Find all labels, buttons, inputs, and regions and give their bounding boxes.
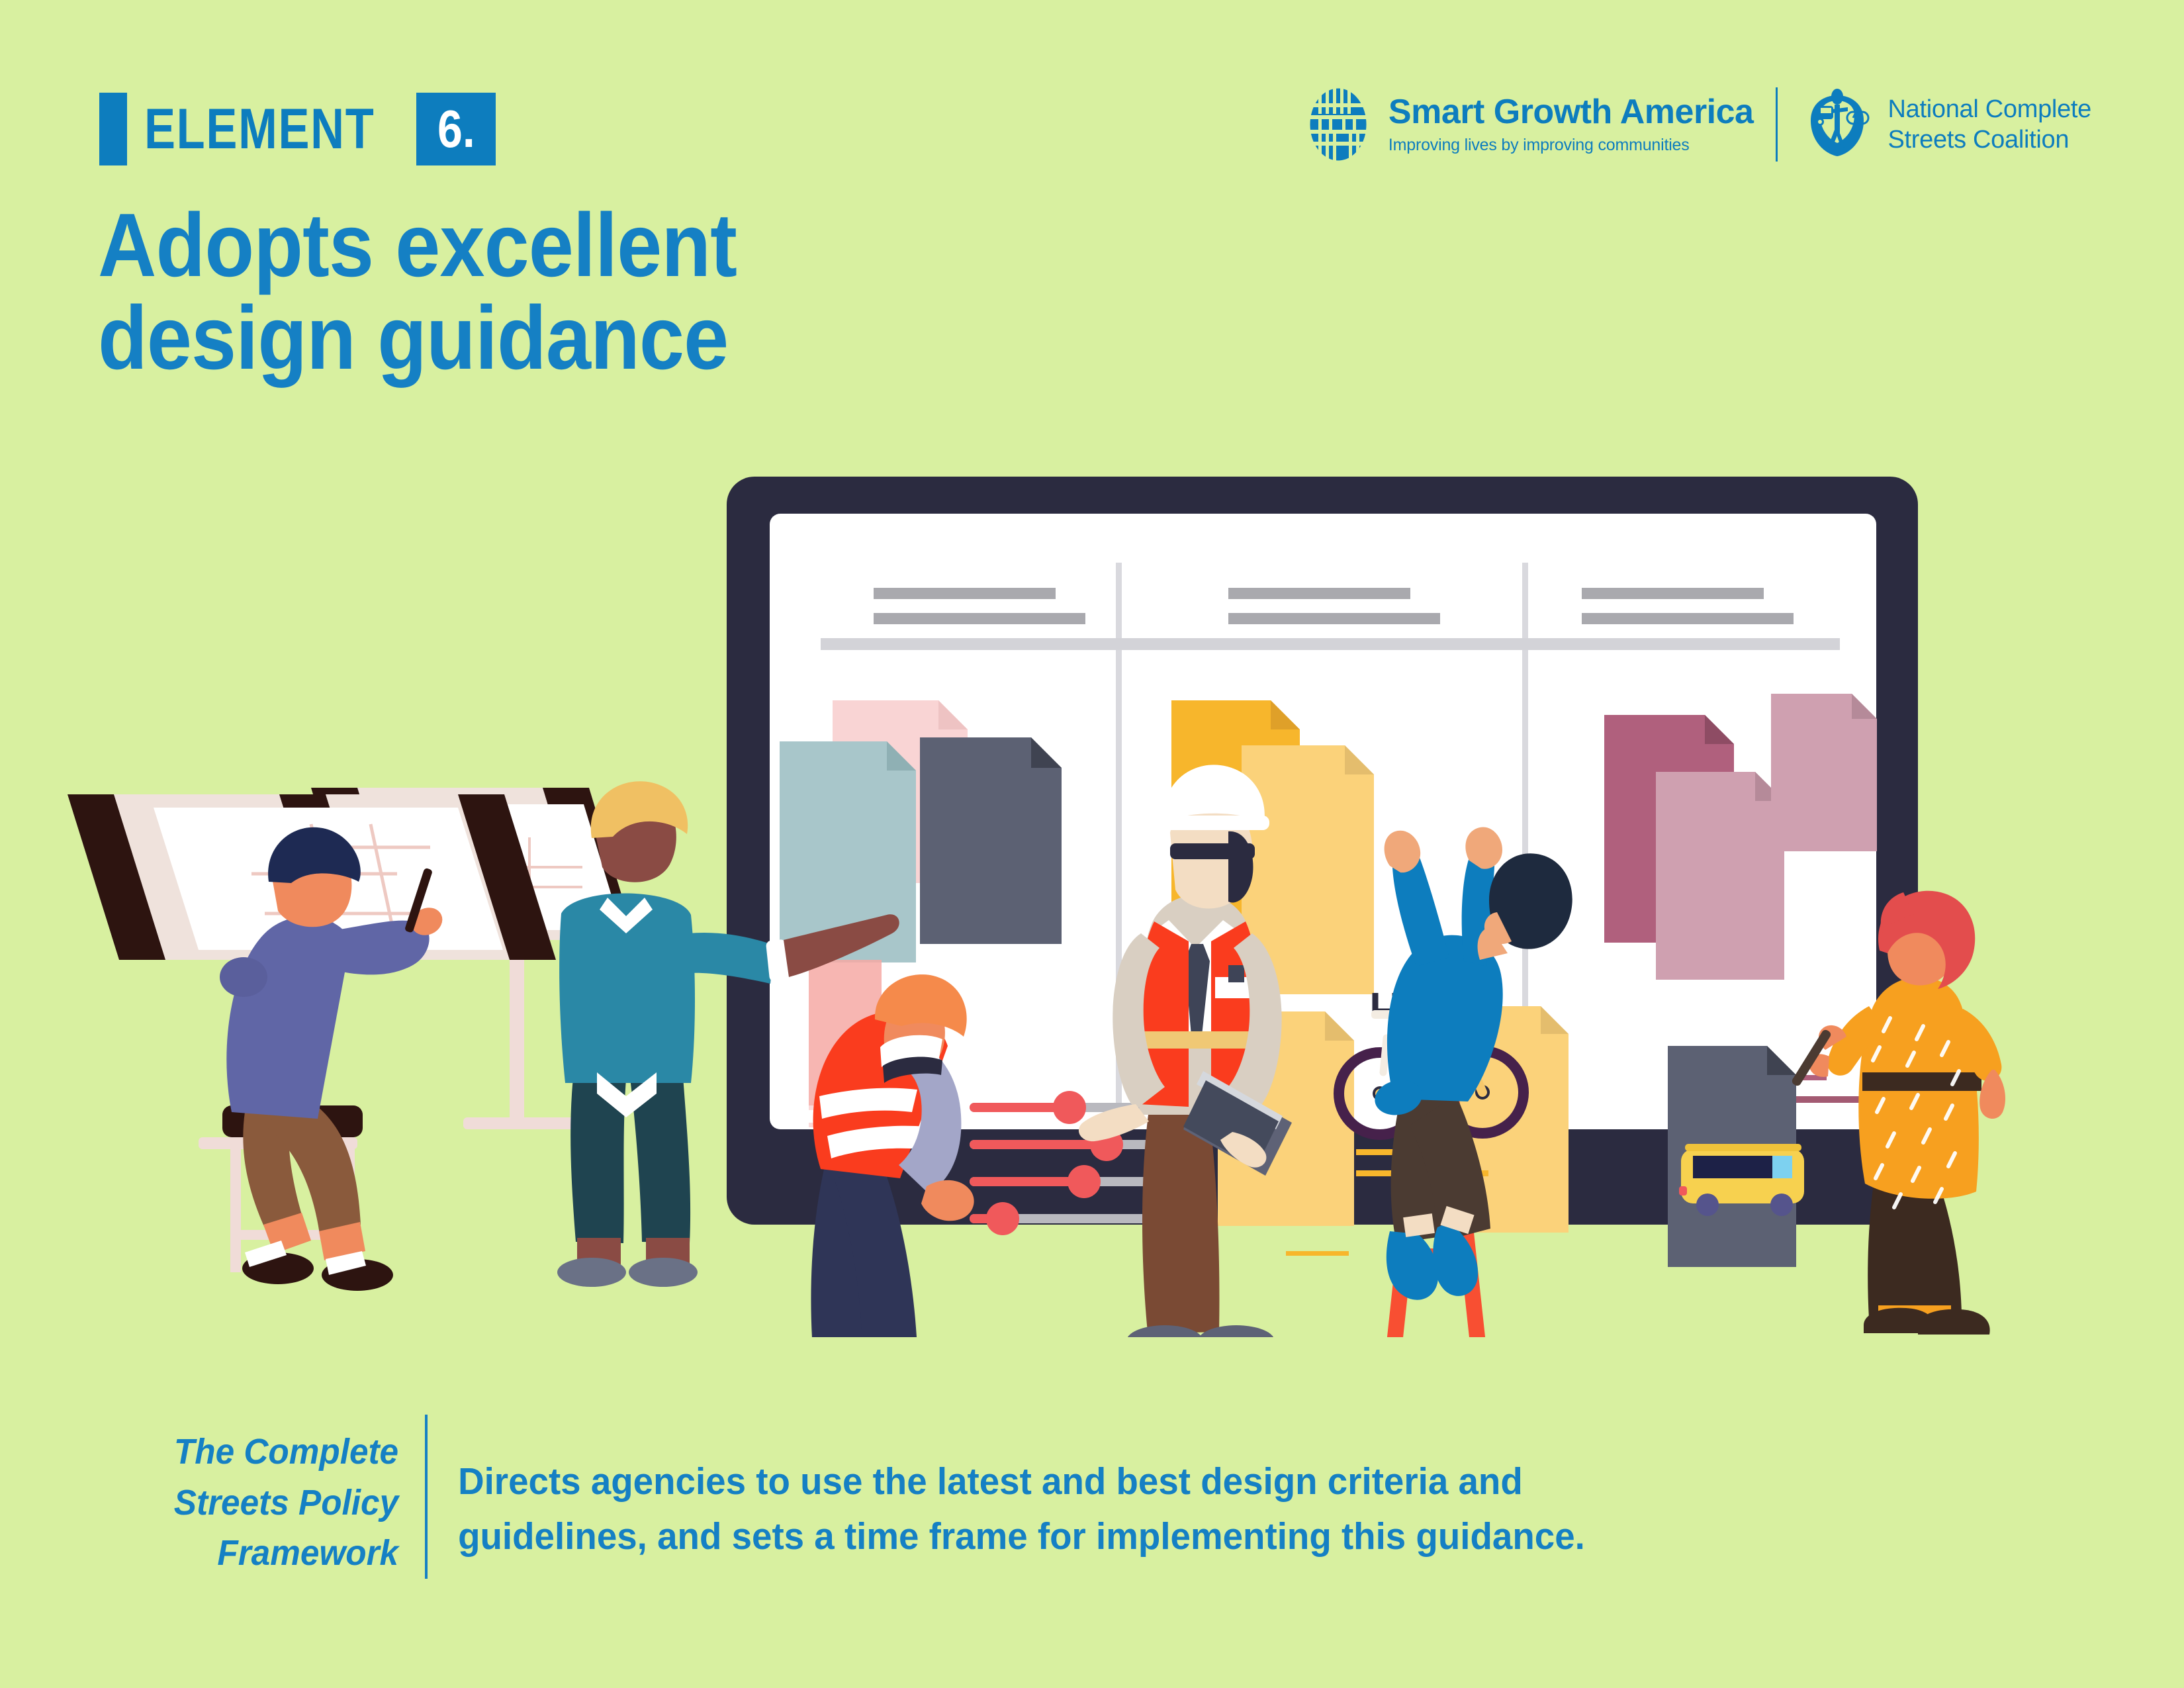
ncsc-line-1: National Complete — [1888, 94, 2091, 124]
framework-label: The Complete Streets Policy Framework — [138, 1415, 425, 1579]
element-header: ELEMENT 6. — [99, 93, 496, 165]
framework-label-line-3: Framework — [138, 1528, 398, 1579]
page-title-line-1: Adopts excellent — [98, 199, 932, 291]
footer-description-line-2: guidelines, and sets a time frame for im… — [458, 1509, 1585, 1564]
sga-name: Smart Growth America — [1388, 95, 1754, 129]
element-number-text: 6. — [437, 103, 475, 156]
sticky-note-dark — [920, 737, 1062, 944]
smart-growth-america-logo: Smart Growth America Improving lives by … — [1302, 86, 1754, 163]
board-header-rule — [821, 638, 1840, 650]
footer: The Complete Streets Policy Framework Di… — [122, 1415, 1633, 1579]
logo-divider — [1776, 87, 1778, 162]
footer-description-line-1: Directs agencies to use the latest and b… — [458, 1454, 1585, 1509]
page-title: Adopts excellent design guidance — [98, 199, 932, 384]
ncsc-line-2: Streets Coalition — [1888, 124, 2091, 155]
page-title-line-2: design guidance — [98, 291, 932, 384]
logo-lockup: Smart Growth America Improving lives by … — [1302, 86, 2091, 163]
sticky-note-mauve-light-1 — [1656, 772, 1784, 980]
element-label: ELEMENT — [144, 101, 375, 158]
framework-label-line-2: Streets Policy — [138, 1477, 398, 1528]
street-users-icon — [1800, 86, 1874, 163]
sga-tagline: Improving lives by improving communities — [1388, 135, 1754, 155]
sga-wordmark: Smart Growth America Improving lives by … — [1388, 95, 1754, 155]
national-complete-streets-coalition-logo: National Complete Streets Coalition — [1800, 86, 2091, 163]
framework-label-line-1: The Complete — [138, 1427, 398, 1477]
footer-description: Directs agencies to use the latest and b… — [428, 1415, 1585, 1579]
globe-grid-icon — [1302, 86, 1374, 163]
ncsc-wordmark: National Complete Streets Coalition — [1888, 94, 2091, 156]
element-number-badge: 6. — [416, 93, 496, 165]
element-accent-bar — [99, 93, 127, 165]
illustration-design-studio — [0, 410, 2184, 1337]
